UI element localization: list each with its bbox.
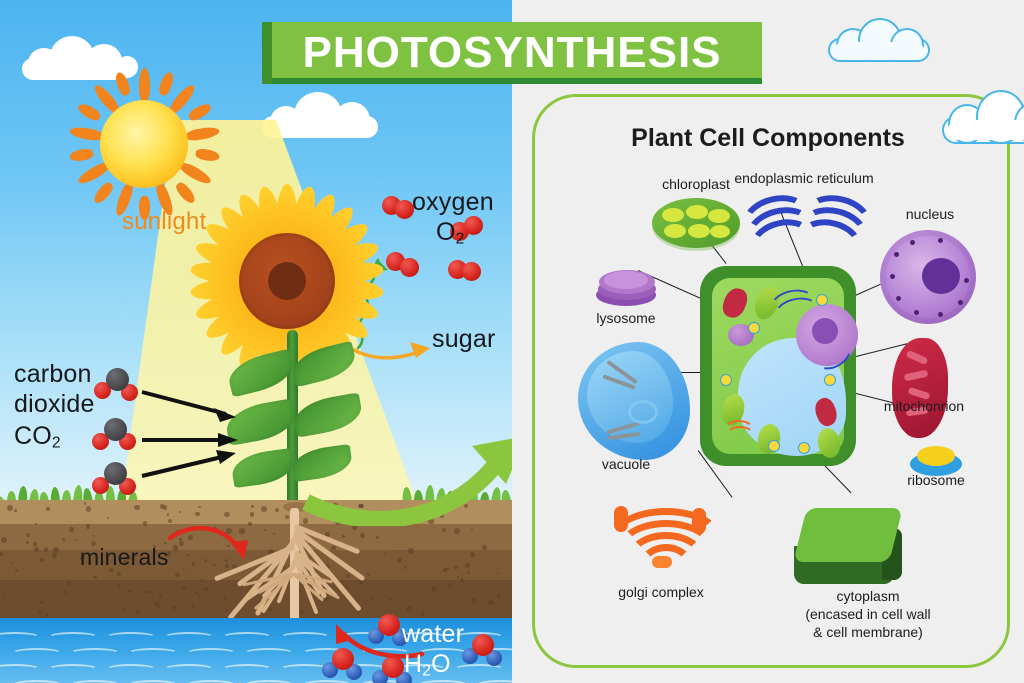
- soil-speck: [38, 611, 42, 615]
- organelle-cytoplasm: [794, 508, 902, 594]
- page-title: PHOTOSYNTHESIS: [262, 22, 762, 84]
- minerals-arrow: [168, 524, 258, 572]
- water-wave: [12, 648, 62, 658]
- label-cytoplasm-line3: & cell membrane): [782, 624, 954, 642]
- soil-speck: [84, 502, 87, 505]
- organelle-nucleus: [880, 230, 976, 324]
- sun-ray: [139, 68, 150, 102]
- soil-speck: [86, 506, 91, 511]
- o2-formula: O2: [436, 218, 464, 248]
- soil-speck: [6, 586, 9, 589]
- soil-speck: [1, 537, 7, 543]
- oxygen-molecule: [448, 260, 482, 280]
- h2o-h: H: [404, 650, 422, 678]
- cell-ribosome: [748, 322, 760, 334]
- oxygen-molecule: [382, 196, 416, 216]
- sugar-label: sugar: [432, 325, 496, 354]
- flower-core: [268, 262, 306, 300]
- soil-speck: [471, 529, 473, 531]
- soil-speck: [7, 505, 13, 511]
- soil-speck: [471, 598, 477, 604]
- soil-speck: [431, 586, 437, 592]
- cell-ribosome: [824, 374, 836, 386]
- cell-mitochondrion: [720, 285, 750, 320]
- sunlight-label: sunlight: [122, 208, 206, 236]
- soil-speck: [465, 563, 470, 568]
- co2-molecule: [92, 462, 138, 496]
- sun-core: [100, 100, 188, 188]
- o2-subscript: 2: [456, 230, 465, 247]
- water-wave: [48, 664, 98, 674]
- carbon-label-line1: carbon: [14, 360, 92, 389]
- soil-speck: [128, 590, 132, 594]
- photosynthesis-scene: sunlight carbon dioxide CO2 oxygen O2 su…: [0, 0, 512, 683]
- organelle-mitochondrion: [892, 338, 948, 438]
- plant-cell-panel: Plant Cell Components: [512, 0, 1024, 683]
- cell-golgi: [726, 426, 754, 444]
- water-label: water: [402, 620, 464, 649]
- plant-cell: [700, 266, 856, 466]
- soil-speck: [67, 581, 71, 585]
- soil-speck: [39, 558, 44, 563]
- sun-ray: [76, 101, 102, 123]
- soil-speck: [34, 547, 39, 552]
- co2-arrow: [140, 430, 250, 450]
- water-wave: [106, 664, 156, 674]
- soil-speck: [167, 513, 169, 515]
- soil-speck: [497, 572, 499, 574]
- soil-speck: [497, 593, 500, 596]
- label-vacuole: vacuole: [566, 456, 686, 474]
- water-wave: [280, 632, 330, 642]
- water-wave: [164, 664, 214, 674]
- h2o-formula: H2O: [404, 650, 451, 680]
- soil-speck: [443, 568, 447, 572]
- soil-speck: [2, 596, 5, 599]
- soil-speck: [406, 606, 412, 612]
- minerals-label: minerals: [80, 544, 169, 571]
- organelle-endoplasmic-reticulum: [742, 196, 866, 258]
- sun-ray: [69, 125, 104, 142]
- organelle-lysosome: [596, 266, 658, 312]
- o2-formula-text: O: [436, 218, 456, 246]
- label-ribosome: ribosome: [874, 472, 998, 490]
- cell-cytoplasm: [712, 278, 844, 454]
- water-wave: [106, 632, 156, 642]
- sun-ray: [113, 71, 132, 97]
- soil-speck: [64, 591, 68, 595]
- water-wave: [128, 648, 178, 658]
- water-wave: [222, 664, 272, 674]
- h2o-subscript: 2: [422, 662, 431, 679]
- co2-arrow: [140, 450, 250, 480]
- soil-speck: [195, 512, 199, 516]
- soil-speck: [44, 547, 48, 551]
- photosynthesis-infographic: sunlight carbon dioxide CO2 oxygen O2 su…: [0, 0, 1024, 683]
- h2o-o: O: [431, 650, 451, 678]
- water-wave: [70, 648, 120, 658]
- soil-speck: [46, 507, 50, 511]
- soil-speck: [457, 576, 459, 578]
- soil-speck: [39, 601, 42, 604]
- co2-arrow: [140, 390, 250, 420]
- co2-molecule: [94, 368, 140, 402]
- water-wave: [222, 632, 272, 642]
- label-lysosome: lysosome: [568, 310, 684, 328]
- soil-speck: [182, 585, 187, 590]
- soil-speck: [454, 566, 458, 570]
- carbon-label-line2: dioxide: [14, 390, 95, 419]
- soil-speck: [45, 613, 49, 617]
- oxygen-molecule: [386, 252, 420, 272]
- soil-speck: [0, 552, 3, 555]
- label-mitochondrion: mitochonrion: [848, 398, 1000, 416]
- label-endoplasmic-reticulum: endoplasmic reticulum: [708, 170, 900, 188]
- soil-speck: [175, 573, 179, 577]
- soil-speck: [488, 600, 493, 605]
- water-molecule: [462, 634, 504, 666]
- organelle-golgi-complex: [608, 506, 714, 578]
- co2-molecule: [92, 418, 138, 452]
- water-wave: [244, 648, 294, 658]
- sun-ray: [157, 71, 176, 97]
- soil-speck: [404, 566, 407, 569]
- sun-ray: [91, 180, 115, 205]
- cell-ribosome: [798, 442, 810, 454]
- organelle-vacuole: [578, 342, 690, 460]
- sun-ray: [187, 101, 213, 123]
- soil-speck: [33, 542, 37, 546]
- label-cytoplasm-line2: (encased in cell wall: [782, 606, 954, 624]
- co2-subscript: 2: [52, 434, 61, 451]
- soil-speck: [454, 528, 460, 534]
- label-golgi-complex: golgi complex: [588, 584, 734, 602]
- soil-speck: [93, 535, 95, 537]
- cell-ribosome: [768, 440, 780, 452]
- oxygen-label: oxygen: [412, 188, 494, 217]
- soil-speck: [69, 527, 74, 532]
- organelle-ribosome: [910, 442, 962, 476]
- organelle-chloroplast: [652, 198, 740, 248]
- water-wave: [164, 632, 214, 642]
- water-wave: [186, 648, 236, 658]
- co2-formula: CO2: [14, 422, 61, 452]
- label-cytoplasm: cytoplasm (encased in cell wall & cell m…: [782, 588, 954, 642]
- cell-ribosome: [720, 374, 732, 386]
- co2-formula-text: CO: [14, 422, 52, 450]
- soil-speck: [93, 576, 97, 580]
- soil-speck: [421, 612, 424, 615]
- water-wave: [48, 632, 98, 642]
- soil-speck: [143, 521, 148, 526]
- soil-speck: [172, 606, 177, 611]
- label-cytoplasm-line1: cytoplasm: [782, 588, 954, 606]
- soil-speck: [408, 548, 414, 554]
- label-nucleus: nucleus: [860, 206, 1000, 224]
- soil-speck: [448, 583, 452, 587]
